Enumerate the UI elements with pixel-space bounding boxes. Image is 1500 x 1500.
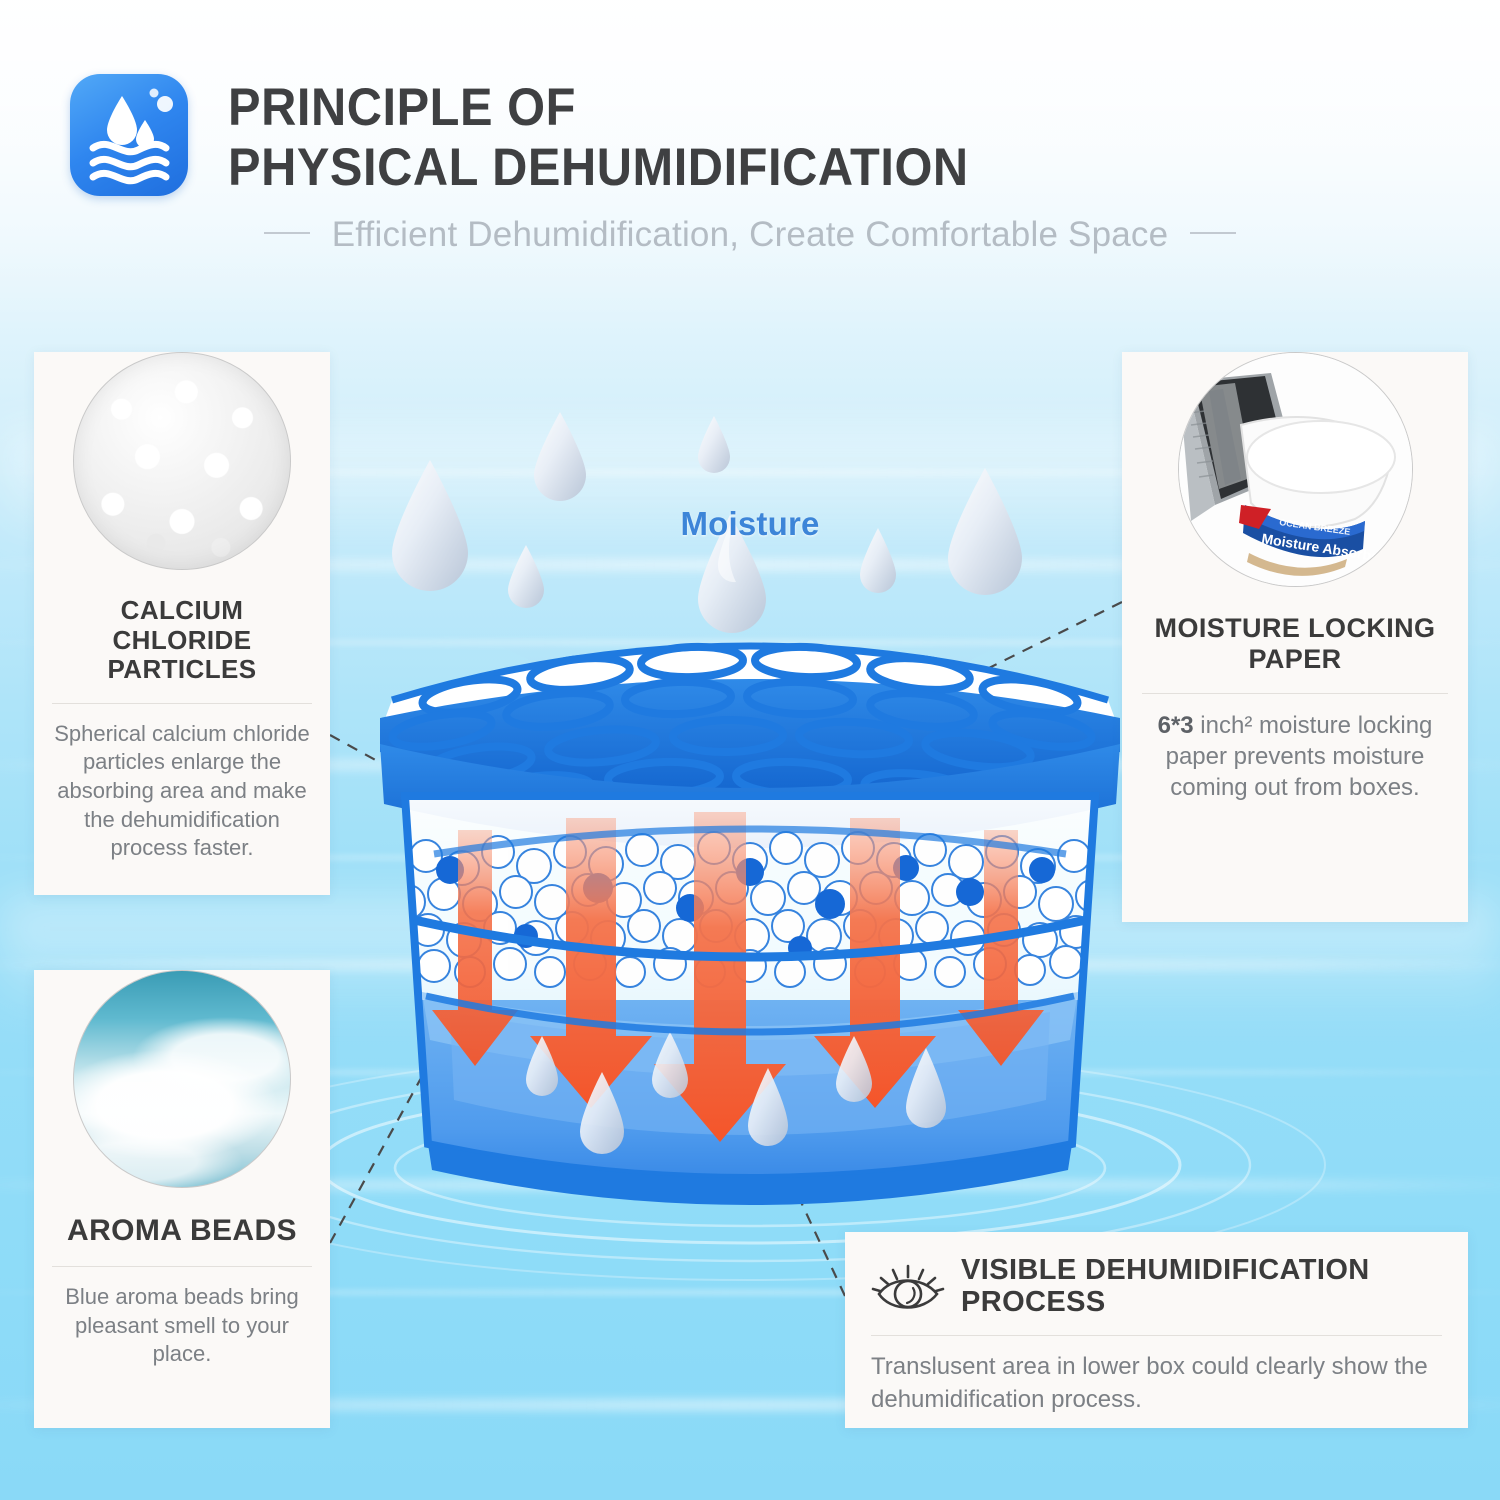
card-title: AROMA BEADS [48, 1214, 316, 1248]
card-divider [52, 703, 312, 704]
card-body-strong: 6*3 [1158, 712, 1194, 739]
infographic-canvas: PRINCIPLE OF PHYSICAL DEHUMIDIFICATION E… [0, 0, 1500, 1500]
card-body: Blue aroma beads bring pleasant smell to… [54, 1283, 310, 1369]
card-title: MOISTURE LOCKING PAPER [1138, 613, 1452, 675]
card-visible-dehumidification-process: VISIBLE DEHUMIDIFICATION PROCESS Translu… [845, 1232, 1468, 1428]
page-subtitle-row: Efficient Dehumidification, Create Comfo… [0, 215, 1500, 255]
box-body [373, 796, 1127, 1235]
card-moisture-locking-paper: OCEAN BREEZE Moisture Absorber MOISTURE … [1122, 352, 1468, 922]
card-calcium-chloride-particles: CALCIUM CHLORIDE PARTICLES Spherical cal… [34, 352, 330, 895]
header-title-block: PRINCIPLE OF PHYSICAL DEHUMIDIFICATION [228, 78, 1033, 198]
page-subtitle: Efficient Dehumidification, Create Comfo… [332, 215, 1169, 254]
page-title-line-2: PHYSICAL DEHUMIDIFICATION [228, 138, 969, 198]
subtitle-dash-left [264, 232, 310, 234]
card-body: Translusent area in lower box could clea… [871, 1350, 1442, 1416]
water-drop-waves-icon [70, 74, 188, 196]
card-divider [52, 1266, 312, 1267]
moisture-absorber-box-photo: OCEAN BREEZE Moisture Absorber [1178, 352, 1413, 587]
page-title-line-1: PRINCIPLE OF [228, 78, 969, 138]
brand-logo [70, 74, 188, 196]
subtitle-dash-right [1190, 232, 1236, 234]
moisture-label: Moisture [330, 505, 1170, 543]
card-title: CALCIUM CHLORIDE PARTICLES [56, 596, 308, 685]
card-title: VISIBLE DEHUMIDIFICATION PROCESS [961, 1254, 1440, 1319]
ocean-wave-photo [73, 970, 291, 1188]
card-body: 6*3 inch² moisture locking paper prevent… [1144, 710, 1446, 804]
card-body: Spherical calcium chloride particles enl… [54, 720, 310, 863]
card-divider [1142, 693, 1448, 694]
card-aroma-beads: AROMA BEADS Blue aroma beads bring pleas… [34, 970, 330, 1428]
absorber-box-illustration: OCEAN BREEZE Moisture Absorber [1179, 353, 1412, 586]
card-divider [871, 1335, 1442, 1336]
eye-icon [871, 1258, 945, 1318]
calcium-chloride-beads-photo [73, 352, 291, 570]
card-body-text: inch² moisture locking paper prevents mo… [1166, 712, 1433, 801]
dehumidifier-box-diagram: Moisture [330, 400, 1170, 1260]
